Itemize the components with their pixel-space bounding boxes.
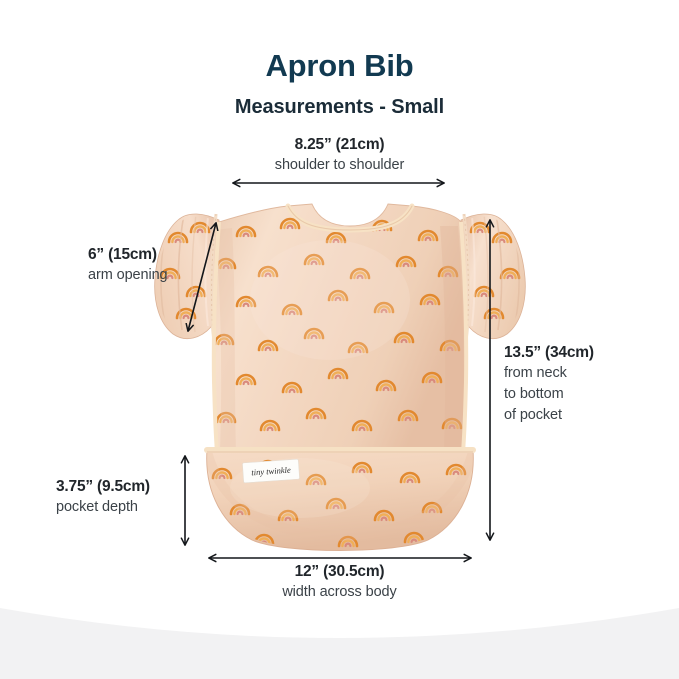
measurement-description-line-1: from neck — [504, 364, 594, 383]
measurement-width-across-body: 12” (30.5cm) width across body — [0, 563, 679, 600]
measurement-shoulder-to-shoulder: 8.25” (21cm) shoulder to shoulder — [0, 136, 679, 173]
measurement-infographic: Apron Bib Measurements - Small — [0, 0, 679, 679]
measurement-value: 3.75” (9.5cm) — [56, 478, 150, 496]
measurement-description: arm opening — [88, 267, 168, 283]
page-title: Apron Bib — [0, 48, 679, 84]
measurement-description-line-3: of pocket — [504, 406, 594, 425]
measurement-description-line-2: to bottom — [504, 385, 594, 404]
measurement-pocket-depth: 3.75” (9.5cm) pocket depth — [56, 478, 150, 515]
measurement-value: 12” (30.5cm) — [0, 563, 679, 581]
measurement-value: 8.25” (21cm) — [0, 136, 679, 154]
page-subtitle: Measurements - Small — [0, 96, 679, 119]
measurement-value: 13.5” (34cm) — [504, 343, 594, 362]
measurement-description: shoulder to shoulder — [0, 157, 679, 173]
measurement-neck-to-pocket: 13.5” (34cm) from neck to bottom of pock… — [504, 343, 594, 425]
measurement-arm-opening: 6” (15cm) arm opening — [88, 246, 168, 283]
measurement-description: width across body — [0, 584, 679, 600]
measurement-description: pocket depth — [56, 499, 150, 515]
measurement-value: 6” (15cm) — [88, 246, 168, 264]
